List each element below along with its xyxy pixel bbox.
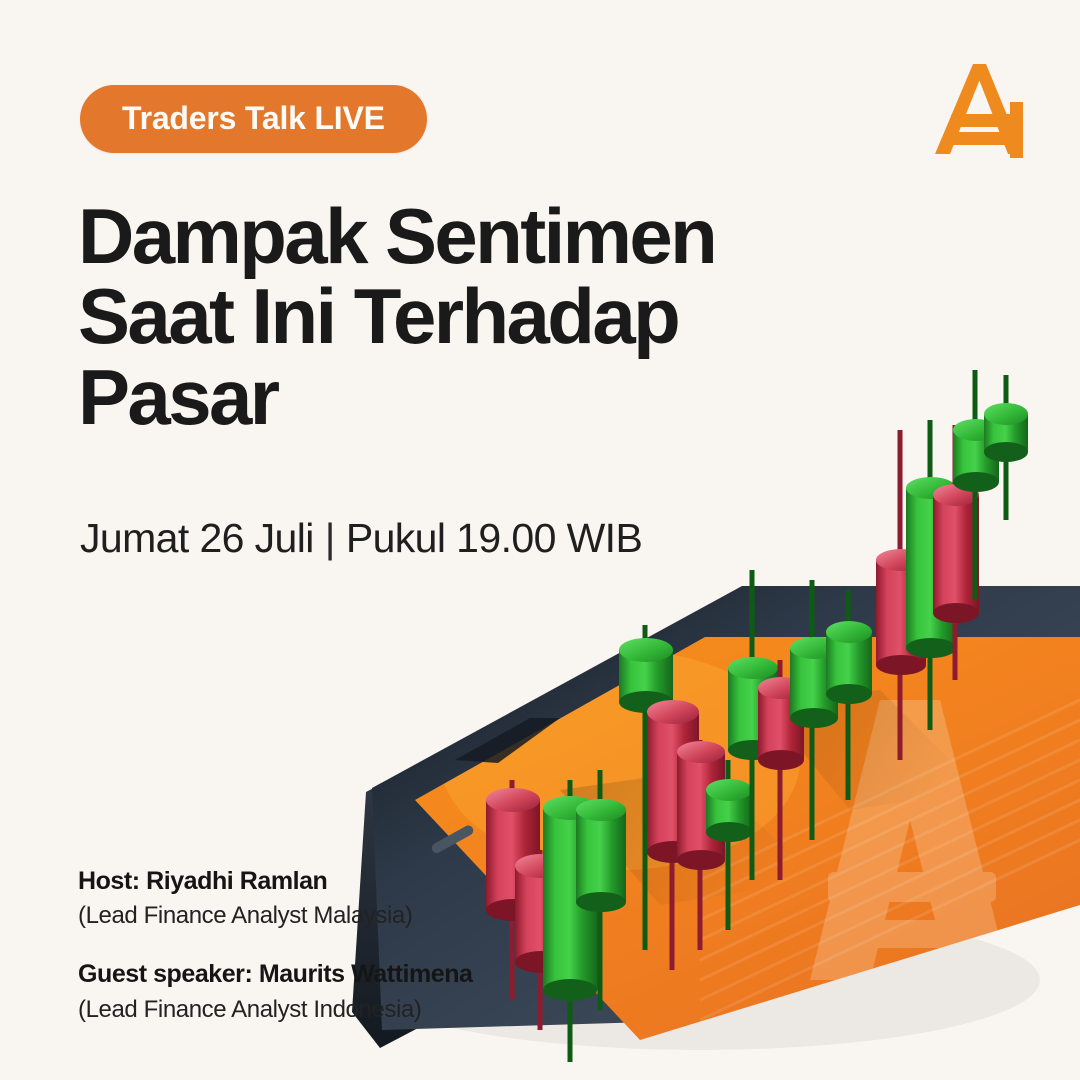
headline-line-1: Dampak Sentimen — [78, 196, 838, 276]
guest-speaker-entry: Guest speaker: Maurits Wattimena (Lead F… — [78, 959, 473, 1024]
letter-a-currency-logo-icon — [926, 58, 1030, 162]
headline-line-2: Saat Ini Terhadap — [78, 276, 838, 356]
schedule-separator: | — [325, 515, 335, 562]
promo-poster: Traders Talk LIVE Dampak Sentimen Saat I… — [0, 0, 1080, 1080]
traders-talk-live-badge: Traders Talk LIVE — [80, 85, 427, 153]
speakers-block: Host: Riyadhi Ramlan (Lead Finance Analy… — [78, 866, 473, 1025]
event-time: Pukul 19.00 WIB — [346, 515, 642, 561]
schedule-line: Jumat 26 Juli|Pukul 19.00 WIB — [80, 515, 642, 562]
headline-line-3: Pasar — [78, 357, 838, 437]
event-date: Jumat 26 Juli — [80, 515, 314, 561]
page-title: Dampak Sentimen Saat Ini Terhadap Pasar — [78, 196, 838, 437]
guest-speaker-name: Guest speaker: Maurits Wattimena — [78, 959, 473, 990]
brand-logo — [926, 58, 1030, 162]
host-role: (Lead Finance Analyst Malaysia) — [78, 900, 473, 931]
guest-speaker-role: (Lead Finance Analyst Indonesia) — [78, 994, 473, 1025]
host-name: Host: Riyadhi Ramlan — [78, 866, 473, 897]
host-entry: Host: Riyadhi Ramlan (Lead Finance Analy… — [78, 866, 473, 931]
